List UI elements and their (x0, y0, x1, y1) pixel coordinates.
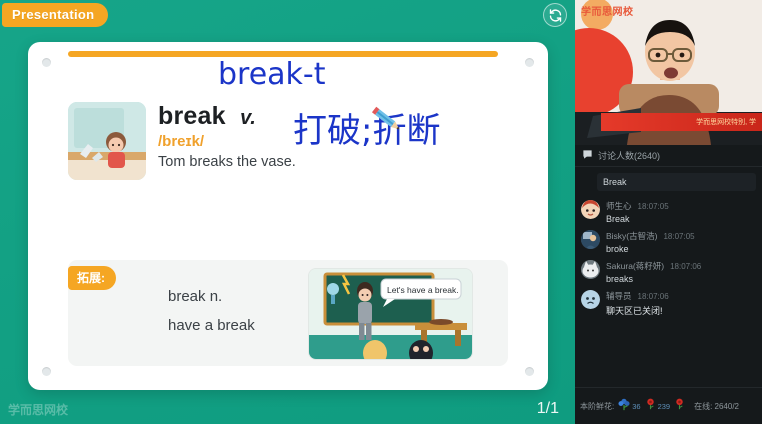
headword: break (158, 102, 226, 131)
flower-stat[interactable]: 239 (644, 397, 671, 415)
handwriting-english-annotation: break-t (218, 57, 326, 92)
chat-username: Sakura(蒋籽妍) (606, 260, 664, 272)
video-promo-banner: 学而思网校特别, 学 (601, 113, 762, 131)
stage-watermark: 学而思网校 (8, 401, 68, 418)
chat-message-row: 辅导员 18:07:06 聊天区已关闭! (575, 287, 762, 320)
red-flower-icon (673, 397, 686, 415)
slide-corner-screw (525, 367, 534, 376)
extension-line: break n. (168, 288, 255, 305)
part-of-speech: v. (240, 107, 256, 130)
chat-header: 讨论人数(2640) (575, 145, 762, 167)
chat-bubble-icon (582, 147, 593, 165)
slide-corner-screw (42, 367, 51, 376)
phonetic-transcription: /breɪk/ (158, 133, 508, 150)
refresh-icon (548, 8, 563, 23)
chat-timestamp: 18:07:06 (670, 262, 701, 271)
video-banner-text: 学而思网校特别, 学 (696, 117, 762, 127)
chat-header-title: 讨论人数(2640) (598, 149, 660, 162)
example-sentence: Tom breaks the vase. (158, 154, 508, 170)
chat-message-row: 师生心 18:07:05 Break (575, 197, 762, 227)
stage-toolbar: Presentation (0, 0, 575, 32)
chat-username: 师生心 (606, 200, 632, 212)
avatar-cartoon-boy (581, 200, 600, 219)
chat-message-row: Sakura(蒋籽妍) 18:07:06 breaks (575, 257, 762, 287)
extension-tag: 拓展: (68, 266, 116, 290)
boy-breaking-vase-illustration (68, 102, 146, 180)
slide-corner-screw (42, 58, 51, 67)
chat-footer-bar: 本阶鲜花: 36 (575, 387, 762, 424)
online-count-label: 在线: 2640/2 (694, 401, 739, 412)
chat-pinned-message: Break (597, 173, 756, 191)
chat-message-text: breaks (606, 274, 756, 284)
chat-system-message: 聊天区已关闭! (606, 304, 756, 317)
pencil-icon (368, 106, 408, 136)
teacher-webcam-feed[interactable]: 学而思网校 学而思网校特别, 学 (575, 0, 762, 145)
blue-flower-icon (617, 397, 631, 416)
slide-accent-bar (68, 51, 498, 57)
side-panel: 学而思网校 学而思网校特别, 学 讨论人数(2640) Break (575, 0, 762, 424)
slide-corner-screw (525, 58, 534, 67)
avatar-white-cat (581, 260, 600, 279)
flower-stat[interactable]: 36 (617, 397, 640, 416)
lesson-app-window: Presentation (0, 0, 762, 424)
refresh-button[interactable] (543, 3, 567, 27)
chat-username: 辅导员 (606, 290, 632, 302)
chat-message-list[interactable]: Break 师生心 18:07 (575, 167, 762, 320)
chat-message-body: 辅导员 18:07:06 聊天区已关闭! (606, 290, 756, 317)
avatar-blue-face (581, 290, 600, 309)
red-flower-icon (644, 397, 657, 415)
slide-card: break v. /breɪk/ Tom breaks the vase. br… (28, 42, 548, 390)
chat-timestamp: 18:07:05 (638, 202, 669, 211)
flower-stat[interactable] (673, 397, 687, 415)
chat-timestamp: 18:07:05 (663, 232, 694, 241)
flower-count: 36 (632, 402, 640, 411)
vocabulary-text: break v. /breɪk/ Tom breaks the vase. (158, 102, 508, 170)
avatar-photo (581, 230, 600, 249)
presentation-stage: Presentation (0, 0, 575, 424)
speech-bubble-text: Let's have a break. (387, 285, 459, 295)
chat-message-text: Break (606, 214, 756, 224)
presentation-badge: Presentation (2, 3, 108, 27)
chat-username: Bisky(古智浩) (606, 230, 657, 242)
chat-message-row: Bisky(古智浩) 18:07:05 broke (575, 227, 762, 257)
chat-message-body: Bisky(古智浩) 18:07:05 broke (606, 230, 756, 254)
extension-line: have a break (168, 317, 255, 334)
chat-message-body: 师生心 18:07:05 Break (606, 200, 756, 224)
video-watermark: 学而思网校 (581, 3, 634, 18)
page-indicator: 1/1 (537, 400, 559, 418)
chat-panel: 讨论人数(2640) Break (575, 145, 762, 387)
vocabulary-block: break v. /breɪk/ Tom breaks the vase. (68, 102, 508, 212)
classroom-teacher-blackboard-illustration: Let's have a break. (308, 268, 473, 360)
flower-count: 239 (658, 402, 671, 411)
chat-message-body: Sakura(蒋籽妍) 18:07:06 breaks (606, 260, 756, 284)
chat-timestamp: 18:07:06 (638, 292, 669, 301)
chat-message-text: broke (606, 244, 756, 254)
flower-label: 本阶鲜花: (580, 401, 614, 412)
extension-lines: break n. have a break (168, 288, 255, 346)
extension-block: 拓展: break n. have a break (68, 260, 508, 366)
